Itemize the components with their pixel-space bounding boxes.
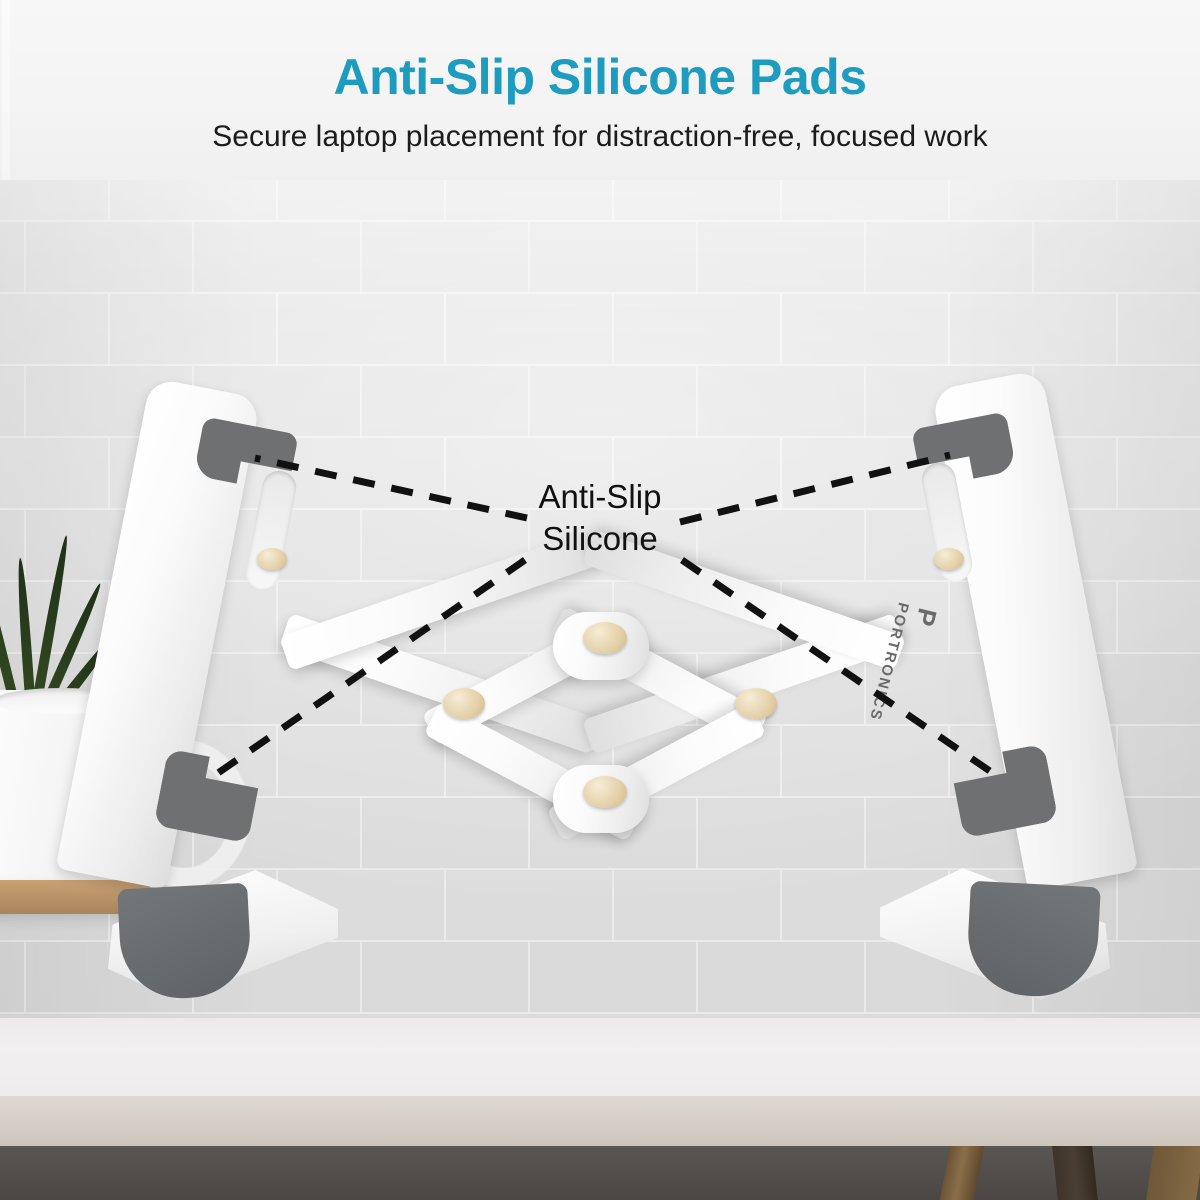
desk-top-surface (0, 1018, 1200, 1096)
pivot-center-bottom (583, 776, 627, 808)
left-foot-silicone-pad (117, 883, 253, 1002)
under-desk-background (0, 1146, 1200, 1200)
header-banner: Anti-Slip Silicone Pads Secure laptop pl… (0, 0, 1200, 180)
desk-edge (0, 1096, 1200, 1146)
callout-label: Anti-Slip Silicone (0, 476, 1200, 560)
desk-leg (1052, 1146, 1098, 1200)
pivot-center-top (583, 622, 627, 654)
pivot-left-cross (443, 688, 485, 719)
callout-label-line1: Anti-Slip (0, 476, 1200, 518)
page-subtitle: Secure laptop placement for distraction-… (0, 122, 1200, 152)
callout-label-line2: Silicone (0, 518, 1200, 560)
pivot-right-cross (735, 688, 777, 719)
desk-leg (1146, 1146, 1200, 1200)
product-marketing-image: P PORTRONICS Anti-Slip Silicone Anti-Sli… (0, 0, 1200, 1200)
page-title: Anti-Slip Silicone Pads (0, 52, 1200, 102)
